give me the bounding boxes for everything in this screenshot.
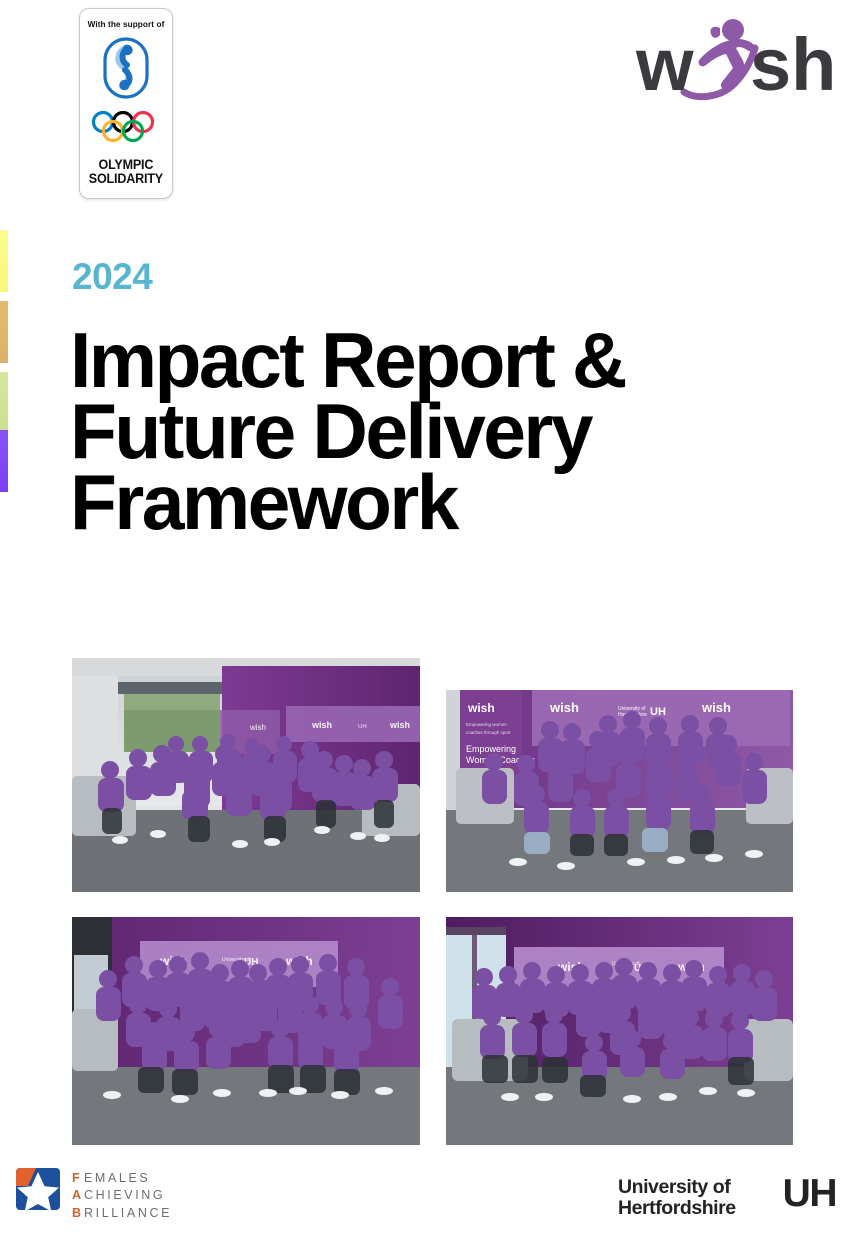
olympic-solidarity-s-icon <box>96 37 156 104</box>
fab-rest-f: EMALES <box>84 1170 150 1187</box>
svg-text:UH: UH <box>358 724 367 730</box>
svg-text:wish: wish <box>311 720 332 730</box>
fab-line-2: A CHIEVING <box>72 1187 172 1204</box>
uh-name-line-1: University of <box>618 1177 736 1198</box>
females-achieving-brilliance-logo: F EMALES A CHIEVING B RILLIANCE <box>12 1164 202 1226</box>
wish-logo: w sh <box>634 12 842 104</box>
svg-text:wish: wish <box>249 723 266 732</box>
olympic-solidarity-logo: With the support of <box>79 8 173 199</box>
svg-text:wish: wish <box>549 700 579 715</box>
svg-text:Empowering women: Empowering women <box>466 722 507 727</box>
olympic-rings-icon <box>90 111 162 148</box>
fab-line-1: F EMALES <box>72 1170 172 1187</box>
fab-rest-a: CHIEVING <box>84 1187 165 1204</box>
fab-initial-a: A <box>72 1187 84 1204</box>
accent-strip-lime <box>0 372 8 434</box>
report-cover-page: With the support of <box>0 0 860 1246</box>
accent-strip-yellow <box>0 230 8 292</box>
svg-text:Empowering: Empowering <box>466 744 516 754</box>
accent-strip-gold <box>0 301 8 363</box>
svg-text:w: w <box>635 23 694 104</box>
svg-text:sh: sh <box>750 23 836 104</box>
olympic-wordmark: OLYMPIC SOLIDARITY <box>89 158 163 186</box>
fab-rest-b: RILLIANCE <box>84 1205 172 1222</box>
svg-text:wish: wish <box>389 720 410 730</box>
svg-text:wish: wish <box>701 700 731 715</box>
svg-text:UH: UH <box>650 706 666 718</box>
university-of-hertfordshire-logo: University of Hertfordshire UH <box>618 1177 836 1225</box>
photo-cohort-3: wish University of UH wish <box>72 917 420 1145</box>
fab-star-icon <box>12 1166 64 1214</box>
olympic-wordmark-line2: SOLIDARITY <box>89 172 163 186</box>
fab-initial-b: B <box>72 1205 84 1222</box>
photo-cohort-2: wish Empowering women coaches through sp… <box>446 690 793 892</box>
photo-cohort-1: wish wish UH wish <box>72 658 420 892</box>
page-title-line-1: Impact Report & <box>70 325 819 396</box>
fab-line-3: B RILLIANCE <box>72 1205 172 1222</box>
page-title-line-3: Framework <box>70 467 819 538</box>
photo-cohort-4: wish University of UH wish <box>446 917 793 1145</box>
uh-name-line-2: Hertfordshire <box>618 1198 736 1219</box>
page-title-line-2: Future Delivery <box>70 396 819 467</box>
olympic-support-text: With the support of <box>88 21 165 29</box>
cover-year: 2024 <box>72 258 152 295</box>
page-title: Impact Report & Future Delivery Framewor… <box>70 325 819 538</box>
svg-text:wish: wish <box>467 701 495 715</box>
uh-name: University of Hertfordshire <box>618 1177 736 1219</box>
accent-strip-purple <box>0 430 8 492</box>
uh-monogram: UH <box>783 1174 836 1213</box>
svg-text:coaches through sport: coaches through sport <box>466 730 511 735</box>
running-woman-figure <box>699 19 755 91</box>
olympic-wordmark-line1: OLYMPIC <box>89 158 163 172</box>
fab-initial-f: F <box>72 1170 84 1187</box>
fab-wordmark: F EMALES A CHIEVING B RILLIANCE <box>72 1170 172 1222</box>
